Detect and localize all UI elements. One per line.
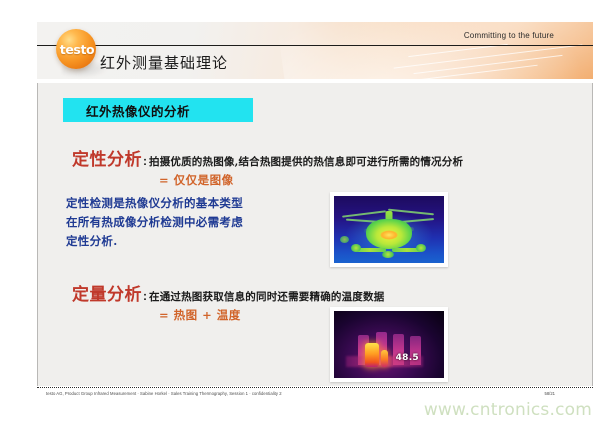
qualitative-heading-row: 定性分析 : 拍摄优质的热图像,结合热图提供的热信息即可进行所需的情况分析 <box>72 145 552 170</box>
slide-root: Committing to the future testo 红外测量基础理论 … <box>0 0 600 424</box>
section-subheading-banner: 红外热像仪的分析 <box>63 98 253 122</box>
footer-text: testo AG, Product Group Infrared Measure… <box>46 391 282 396</box>
header-streak-3 <box>418 65 537 79</box>
thermal-fuses-canvas: 48.5 <box>334 311 444 378</box>
qualitative-heading: 定性分析 <box>72 145 142 170</box>
quantitative-colon: : <box>142 289 149 303</box>
helicopter-warm-blob <box>382 251 394 258</box>
fuse-hotspot-primary <box>365 343 379 367</box>
header-streak-2 <box>413 55 562 74</box>
qualitative-notes: 定性检测是热像仪分析的基本类型 在所有热成像分析检测中必需考虑 定性分析. <box>66 194 243 251</box>
quantitative-equation: = 热图 + 温度 <box>159 307 241 323</box>
helicopter-hotspot <box>381 230 398 239</box>
helicopter-warm-blob <box>351 244 361 252</box>
page-title: 红外测量基础理论 <box>100 52 228 73</box>
qualitative-note-line: 在所有热成像分析检测中必需考虑 <box>66 213 243 232</box>
temperature-label: 48.5 <box>396 353 419 363</box>
qualitative-note-line: 定性检测是热像仪分析的基本类型 <box>66 194 243 213</box>
thermal-image-fuses: 48.5 <box>330 307 448 382</box>
thermal-fuses-background <box>334 311 444 378</box>
header-divider-rule <box>37 45 593 46</box>
section-subheading-text: 红外热像仪的分析 <box>63 101 190 120</box>
qualitative-body-text: 拍摄优质的热图像,结合热图提供的热信息即可进行所需的情况分析 <box>149 154 463 169</box>
header-streak-1 <box>394 44 583 68</box>
quantitative-body-text: 在通过热图获取信息的同时还需要精确的温度数据 <box>149 289 384 304</box>
fuse-hotspot-secondary <box>381 350 388 367</box>
quantitative-heading-row: 定量分析 : 在通过热图获取信息的同时还需要精确的温度数据 <box>72 280 552 305</box>
brand-tagline: Committing to the future <box>464 31 554 40</box>
quantitative-heading: 定量分析 <box>72 280 142 305</box>
helicopter-warm-blob <box>340 236 349 243</box>
testo-logo: testo <box>56 29 96 69</box>
logo-wordmark: testo <box>51 42 103 57</box>
footer-divider-rule <box>37 387 593 388</box>
helicopter-warm-blob <box>416 244 426 252</box>
thermal-helicopter-canvas <box>334 196 444 263</box>
footer-page-number: 58/21 <box>545 391 555 396</box>
qualitative-note-line: 定性分析. <box>66 232 243 251</box>
qualitative-equation: = 仅仅是图像 <box>159 172 234 188</box>
thermal-image-helicopter <box>330 192 448 267</box>
qualitative-colon: : <box>142 154 149 168</box>
watermark: www.cntronics.com <box>424 400 592 420</box>
